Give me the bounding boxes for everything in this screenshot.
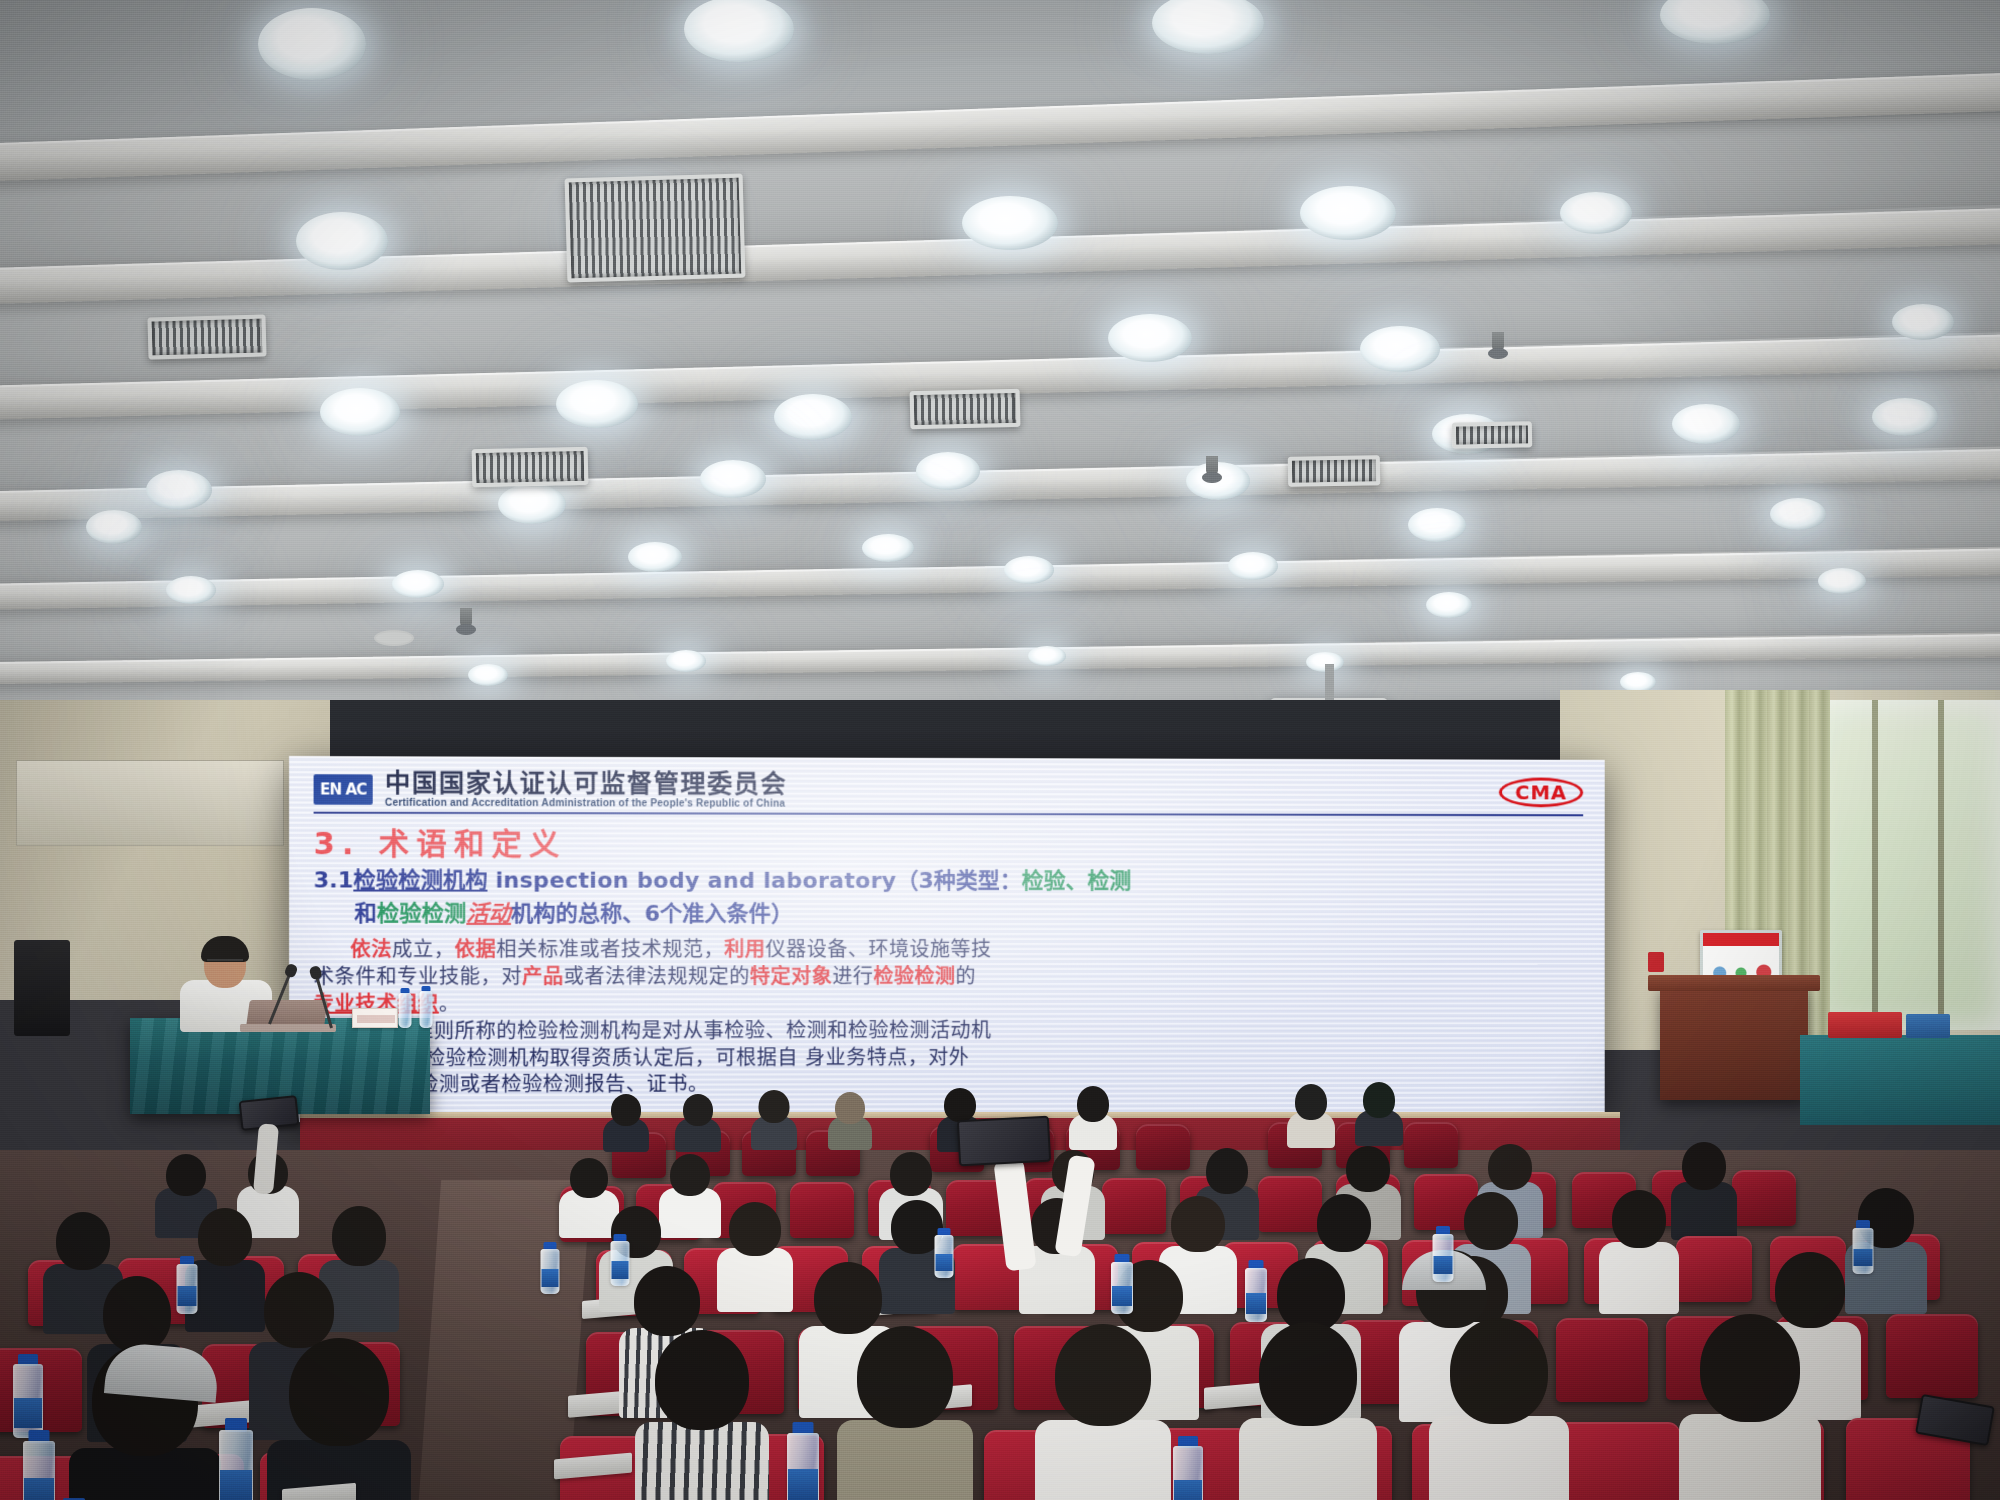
ceiling-light-icon [1300, 186, 1396, 240]
sprinkler-icon [1206, 456, 1218, 476]
person-torso [1429, 1416, 1569, 1500]
person-head [944, 1088, 976, 1122]
person-head [332, 1206, 386, 1266]
audience-member [636, 1330, 768, 1500]
laptop [246, 1000, 328, 1026]
air-vent-icon [1452, 421, 1532, 448]
water-bottle[interactable] [176, 1256, 198, 1314]
air-vent-icon [565, 174, 746, 283]
definition-line-2: 术条件和专业技能，对产品或者法律法规规定的特定对象进行检验检测的 [314, 963, 1584, 991]
audience-member [752, 1090, 796, 1144]
def-l2-f: 检验检测 [873, 964, 955, 988]
ceiling-light-icon [1426, 592, 1472, 618]
term-line2-mid: 机构的总称、 [511, 902, 645, 927]
projector-mount [1325, 664, 1334, 700]
auditorium-seat[interactable] [790, 1182, 854, 1238]
water-bottle[interactable] [934, 1228, 954, 1278]
bottle-label [1246, 1293, 1266, 1314]
ceiling-light-icon [628, 542, 682, 572]
water-bottle [398, 988, 412, 1028]
air-vent-icon [472, 447, 589, 487]
audience-member [1240, 1322, 1376, 1500]
water-bottle[interactable] [1172, 1436, 1204, 1500]
auditorium-seat[interactable] [1676, 1236, 1752, 1302]
phone-screen [959, 1118, 1049, 1165]
ceiling-light-icon [392, 570, 444, 598]
ceiling-light-icon [1872, 398, 1938, 436]
slide-section-title: 3. 术语和定义 [314, 819, 1584, 865]
audience-member [268, 1338, 410, 1500]
definition-paragraph: 依法成立，依据相关标准或者技术规范，利用仪器设备、环境设施等技 术条件和专业技能… [314, 936, 1584, 1098]
person-head [670, 1154, 710, 1196]
def-l1-c: 依据 [455, 937, 497, 961]
air-vent-icon [1288, 455, 1381, 487]
ceiling-light-icon [320, 388, 400, 436]
presentation-slide: EN AC 中国国家认证认可监督管理委员会 Certification and … [289, 756, 1605, 1122]
person-torso [635, 1422, 769, 1500]
air-vent-icon [910, 389, 1021, 429]
water-bottle[interactable] [1110, 1254, 1134, 1314]
supply-box-blue [1906, 1014, 1950, 1038]
audience-member [1356, 1082, 1402, 1140]
audience-member [1070, 1086, 1116, 1144]
term-type-count: 3种类型 [918, 869, 999, 894]
def-l1-f: 仪器设备、环境设施等技 [765, 937, 991, 961]
bottle-label [1854, 1249, 1873, 1266]
lectern-top [1648, 975, 1820, 991]
bottle-label [1434, 1256, 1453, 1274]
ceiling-light-icon [1770, 498, 1826, 530]
person-torso [837, 1420, 973, 1500]
ceiling-light-icon [666, 650, 706, 672]
person-head [1464, 1192, 1518, 1250]
person-head [1700, 1314, 1800, 1422]
name-card [352, 1008, 398, 1028]
person-torso [1679, 1414, 1821, 1500]
audience-member [838, 1326, 972, 1500]
lectern [1660, 985, 1808, 1100]
person-head [1450, 1318, 1548, 1424]
def-l2-a: 术条件和专业技能，对 [314, 964, 523, 988]
wall-panel [16, 760, 284, 846]
audience-member [604, 1094, 648, 1146]
auditorium-seat[interactable] [1886, 1314, 1978, 1398]
water-bottle [419, 986, 433, 1028]
ceiling-light-icon [684, 0, 794, 62]
water-bottle[interactable] [1244, 1260, 1268, 1322]
auditorium-seat[interactable] [1136, 1124, 1190, 1170]
ceiling-light-icon [1108, 314, 1192, 362]
def-l2-g: 的 [955, 964, 975, 988]
note-line-2: 构 的总称。检验检测机构取得资质认定后，可根据自 身业务特点，对外 [314, 1043, 1584, 1072]
person-head [198, 1208, 252, 1266]
paren-open: （ [896, 869, 918, 894]
person-head [1612, 1190, 1666, 1248]
water-bottle[interactable] [540, 1242, 560, 1294]
water-bottle[interactable] [1852, 1220, 1874, 1274]
ceiling-diffuser-icon [374, 630, 414, 646]
ceiling-light-icon [862, 534, 914, 562]
audience-member [1430, 1318, 1568, 1500]
cnca-logo-icon: EN AC [314, 774, 373, 804]
ceiling-light-icon [258, 8, 366, 80]
projection-screen: EN AC 中国国家认证认可监督管理委员会 Certification and … [289, 756, 1605, 1122]
ceiling-light-icon [166, 576, 216, 604]
section-title-text: 术语和定义 [379, 827, 567, 863]
def-l2-e: 进行 [832, 964, 873, 988]
screen-surface: EN AC 中国国家认证认可监督管理委员会 Certification and … [289, 756, 1605, 1122]
water-bottle[interactable] [218, 1418, 254, 1500]
bottle-label [24, 1478, 54, 1500]
ceiling-light-icon [774, 394, 852, 440]
person-torso [1239, 1418, 1377, 1500]
ceiling-light-icon [1152, 0, 1264, 54]
person-head [1317, 1194, 1371, 1252]
auditorium-seat[interactable] [1404, 1122, 1458, 1168]
window-mullion [1872, 700, 1878, 1030]
bottle-label [1174, 1480, 1202, 1500]
person-head [634, 1266, 700, 1336]
left-wall [0, 700, 330, 1000]
ceiling-light-icon [1228, 552, 1278, 580]
person-head [1259, 1322, 1357, 1426]
ceiling-light-icon [1818, 568, 1866, 594]
def-l1-e: 利用 [724, 937, 765, 961]
def-l1-a: 依法 [350, 937, 392, 961]
person-head [56, 1212, 110, 1270]
water-bottle[interactable] [22, 1430, 56, 1500]
def-l1-b: 成立， [392, 937, 455, 961]
ceiling-light-icon [468, 664, 508, 686]
def-l2-b: 产品 [522, 964, 564, 988]
audience-member [1036, 1324, 1170, 1500]
term-types: 检验、检测 [1022, 869, 1132, 894]
fire-alarm-icon [1648, 952, 1664, 972]
bottle-body [399, 993, 412, 1028]
auditorium-seat[interactable] [1556, 1422, 1680, 1500]
bottle-label [936, 1254, 953, 1271]
person-head [1206, 1148, 1248, 1194]
auditorium-seat[interactable] [1102, 1178, 1166, 1234]
ceiling-light-icon [498, 484, 566, 524]
person-head [1277, 1258, 1345, 1332]
person-head [1488, 1144, 1532, 1190]
ceiling-light-icon [86, 510, 142, 544]
audience-member [1680, 1314, 1820, 1500]
person-head [729, 1202, 781, 1256]
sprinkler-icon [1492, 332, 1504, 352]
term-number: 3.1 [314, 869, 354, 894]
term-line2-red: 活动 [466, 902, 511, 927]
def-l3-b: 。 [439, 991, 460, 1015]
person-head [759, 1090, 790, 1123]
term-colon: ： [1000, 869, 1022, 894]
audience-member [1600, 1190, 1678, 1304]
note-line-1: 本评审准则所称的检验检测机构是对从事检验、检测和检验检测活动机 [314, 1016, 1584, 1045]
organization-name-en: Certification and Accreditation Administ… [385, 798, 1487, 811]
ceiling-light-icon [1672, 404, 1740, 444]
person-head [1363, 1082, 1395, 1118]
auditorium-seat[interactable] [1732, 1170, 1796, 1226]
ceiling-light-icon [1004, 556, 1054, 584]
term-cn: 检验检测机构 [353, 869, 487, 894]
term-line2-blue: 6个准入条件 [645, 902, 771, 927]
water-bottle[interactable] [786, 1422, 820, 1500]
bottle-label [14, 1398, 42, 1428]
ceiling [0, 0, 2000, 790]
cma-logo-icon: CMA [1499, 778, 1583, 808]
bottle-label [612, 1261, 629, 1279]
water-bottle[interactable] [610, 1234, 630, 1286]
window [1810, 700, 2000, 1030]
person-head [166, 1154, 206, 1196]
person-head [1346, 1146, 1390, 1192]
person-head [683, 1094, 713, 1126]
person-head [1295, 1084, 1327, 1120]
audience-member [1672, 1142, 1736, 1230]
person-head [1171, 1196, 1225, 1252]
ceiling-light-icon [296, 212, 388, 270]
ceiling-light-icon [146, 470, 212, 510]
speaker-box-icon [14, 940, 70, 1036]
conference-hall-photo: EN AC 中国国家认证认可监督管理委员会 Certification and … [0, 0, 2000, 1500]
section-number: 3. [314, 827, 361, 862]
bottle-body [420, 991, 433, 1028]
ceiling-light-icon [1620, 672, 1656, 692]
term-definition-heading: 3.1检验检测机构 inspection body and laboratory… [314, 868, 1584, 898]
person-head [611, 1094, 641, 1126]
ceiling-light-icon [962, 196, 1058, 250]
person-head [103, 1276, 171, 1352]
def-l2-c: 或者法律法规规定的 [564, 964, 750, 988]
note-l1: 本评审准则所称的检验检测机构是对从事检验、检测和检验检测活动机 [350, 1018, 991, 1043]
person-head [1682, 1142, 1726, 1190]
person-head [857, 1326, 953, 1428]
window-mullion [1938, 700, 1944, 1030]
audience-member [676, 1094, 720, 1146]
paren-close: ） [771, 902, 793, 927]
laptop-base [240, 1024, 336, 1032]
bottle-label [178, 1286, 197, 1306]
water-bottle[interactable] [12, 1354, 44, 1438]
def-l2-d: 特定对象 [750, 964, 832, 988]
ceiling-light-icon [1660, 0, 1770, 44]
person-torso [717, 1248, 793, 1312]
ceiling-light-icon [916, 452, 980, 490]
person-torso [1599, 1242, 1679, 1314]
ceiling-light-icon [1360, 326, 1440, 372]
bottle-label [220, 1470, 252, 1500]
glasses-icon [207, 959, 243, 967]
organization-name: 中国国家认证认可监督管理委员会 Certification and Accred… [385, 770, 1487, 811]
smartphone-camera[interactable] [957, 1116, 1051, 1167]
person-head [570, 1158, 608, 1198]
bottle-label [788, 1469, 818, 1500]
def-l1-d: 相关标准或者技术规范， [496, 937, 724, 961]
bottle-label [1112, 1286, 1132, 1306]
auditorium-seat[interactable] [1556, 1318, 1648, 1402]
term-en: inspection body and laboratory [495, 869, 896, 894]
person-head [835, 1092, 865, 1124]
person-head [655, 1330, 749, 1430]
person-head [890, 1152, 932, 1196]
poster-header [1703, 933, 1779, 946]
organization-name-cn: 中国国家认证认可监督管理委员会 [385, 770, 1487, 799]
water-bottle[interactable] [1432, 1226, 1454, 1282]
audience-member [1288, 1084, 1334, 1142]
slide-header: EN AC 中国国家认证认可监督管理委员会 Certification and … [314, 770, 1584, 816]
person-torso [1671, 1182, 1737, 1240]
audience-area [0, 1100, 2000, 1500]
air-vent-icon [147, 314, 266, 359]
term-line2-green: 检验检测 [377, 901, 467, 926]
term-line2-prefix: 和 [354, 901, 376, 926]
person-head [1055, 1324, 1151, 1426]
ceiling-light-icon [1892, 304, 1954, 340]
term-definition-heading-line2: 和检验检测活动机构的总称、6个准入条件） [314, 900, 1584, 929]
ceiling-light-icon [556, 380, 638, 428]
person-head [814, 1262, 882, 1334]
sprinkler-icon [460, 608, 472, 628]
audience-member [828, 1092, 872, 1144]
person-head [264, 1272, 334, 1348]
ceiling-light-icon [1560, 192, 1632, 234]
person-head [1077, 1086, 1109, 1122]
person-head [289, 1338, 389, 1446]
ceiling-light-icon [700, 460, 766, 498]
definition-line-1: 依法成立，依据相关标准或者技术规范，利用仪器设备、环境设施等技 [314, 936, 1584, 963]
definition-line-3: 专业技术组织。 [314, 990, 1584, 1018]
ceiling-light-icon [1028, 646, 1066, 666]
ceiling-light-icon [1408, 508, 1466, 542]
person-torso [1035, 1420, 1171, 1500]
supply-box-red [1828, 1012, 1902, 1038]
audience-member [718, 1202, 792, 1304]
bottle-label [542, 1269, 559, 1287]
